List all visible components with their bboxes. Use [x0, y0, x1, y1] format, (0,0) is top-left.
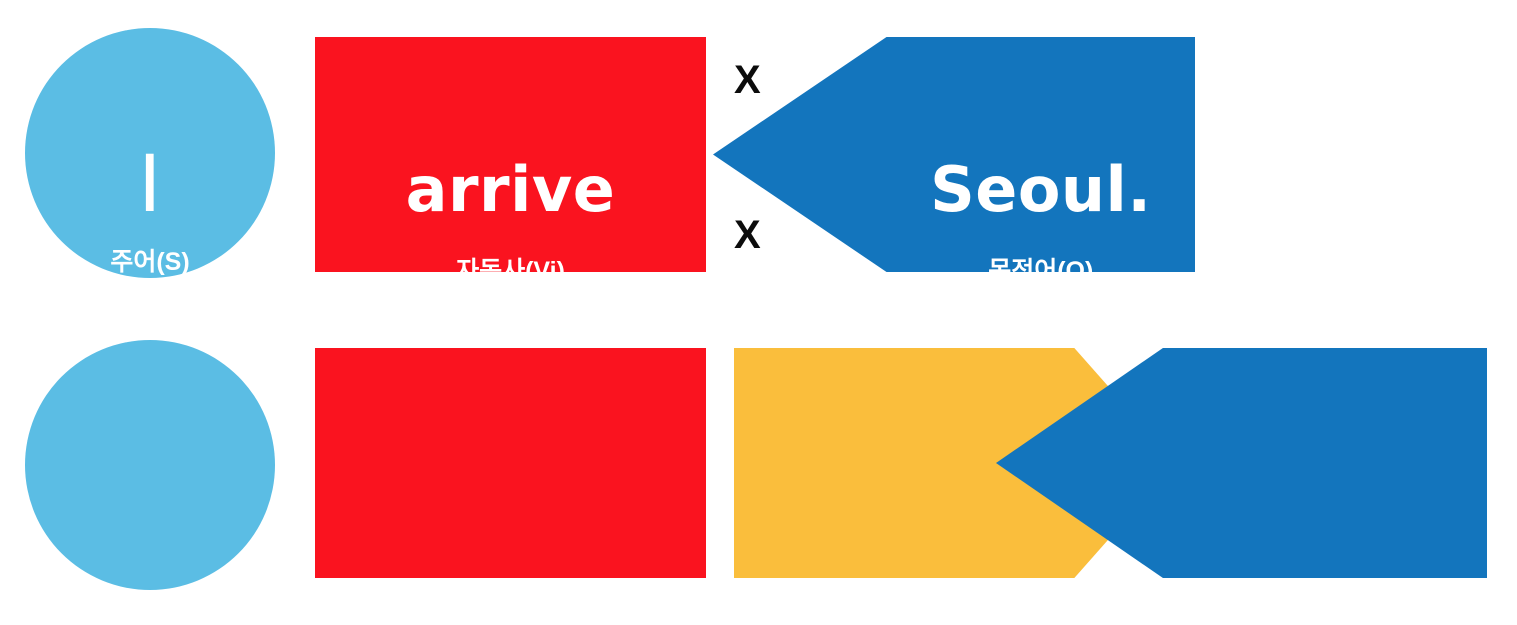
object-arrow-row1[interactable]: Seoul. 목적어(O): [713, 37, 1195, 272]
object-word-row1: Seoul.: [887, 159, 1195, 221]
x-mark-bottom-icon: X: [734, 215, 761, 255]
subject-circle-row1[interactable]: I 주어(S): [25, 28, 275, 278]
object-role-label-row1: 목적어(O): [887, 259, 1195, 284]
x-mark-top-icon: X: [734, 60, 761, 100]
diagram-canvas: I 주어(S) arrive 자동사(Vi) Seoul. 목적어(O) X X…: [0, 0, 1517, 625]
verb-box-row2[interactable]: arrive 자동사(Vi): [315, 348, 706, 578]
verb-role-label-row1: 자동사(Vi): [315, 259, 706, 284]
verb-box-row1[interactable]: arrive 자동사(Vi): [315, 37, 706, 272]
subject-circle-row2[interactable]: I 주어(S): [25, 340, 275, 590]
subject-role-label-row1: 주어(S): [25, 250, 275, 275]
verb-word-row1: arrive: [315, 159, 706, 221]
subject-word-row1: I: [25, 146, 275, 224]
